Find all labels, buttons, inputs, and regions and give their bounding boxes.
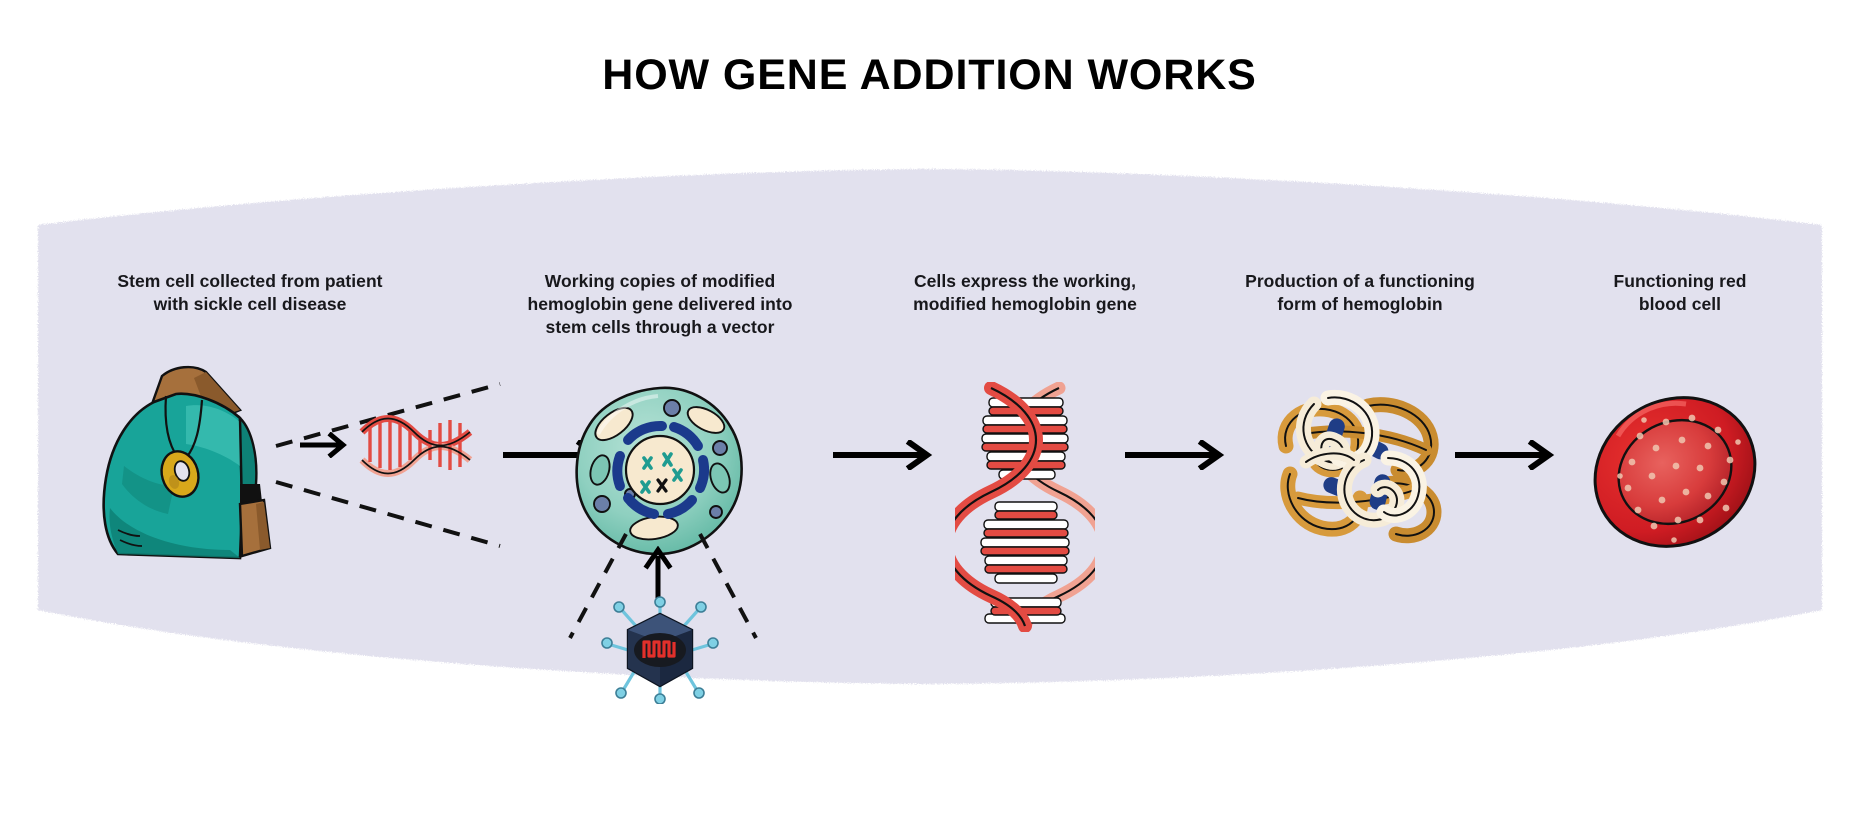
step-functioning-red-blood-cell: Functioning red blood cell bbox=[1530, 0, 1830, 813]
caption-line: hemoglobin gene delivered into bbox=[470, 293, 850, 316]
infographic-canvas: HOW GENE ADDITION WORKS Stem cell collec… bbox=[0, 0, 1859, 813]
step-vector-delivery: Working copies of modified hemoglobin ge… bbox=[470, 0, 850, 813]
step-hemoglobin-production: Production of a functioning form of hemo… bbox=[1190, 0, 1530, 813]
caption-line: Stem cell collected from patient bbox=[40, 270, 460, 293]
caption-line: Functioning red bbox=[1530, 270, 1830, 293]
step-4-caption: Production of a functioning form of hemo… bbox=[1190, 270, 1530, 316]
caption-line: modified hemoglobin gene bbox=[860, 293, 1190, 316]
arrow-patient-to-dna bbox=[298, 432, 350, 463]
step-1-caption: Stem cell collected from patient with si… bbox=[40, 270, 460, 316]
caption-line: form of hemoglobin bbox=[1190, 293, 1530, 316]
caption-line: Production of a functioning bbox=[1190, 270, 1530, 293]
step-3-caption: Cells express the working, modified hemo… bbox=[860, 270, 1190, 316]
dna-helix-horizontal-icon bbox=[358, 412, 478, 487]
caption-line: stem cells through a vector bbox=[470, 316, 850, 339]
red-blood-cell-icon bbox=[1580, 384, 1770, 564]
caption-line: Working copies of modified bbox=[470, 270, 850, 293]
step-2-caption: Working copies of modified hemoglobin ge… bbox=[470, 270, 850, 338]
step-gene-expression: Cells express the working, modified hemo… bbox=[860, 0, 1190, 813]
hemoglobin-protein-icon bbox=[1268, 388, 1448, 558]
caption-line: Cells express the working, bbox=[860, 270, 1190, 293]
step-stem-cell-collection: Stem cell collected from patient with si… bbox=[40, 0, 460, 813]
caption-line: with sickle cell disease bbox=[40, 293, 460, 316]
step-5-caption: Functioning red blood cell bbox=[1530, 270, 1830, 316]
viral-vector-icon bbox=[600, 596, 720, 709]
caption-line: blood cell bbox=[1530, 293, 1830, 316]
dna-double-helix-icon bbox=[955, 382, 1095, 637]
